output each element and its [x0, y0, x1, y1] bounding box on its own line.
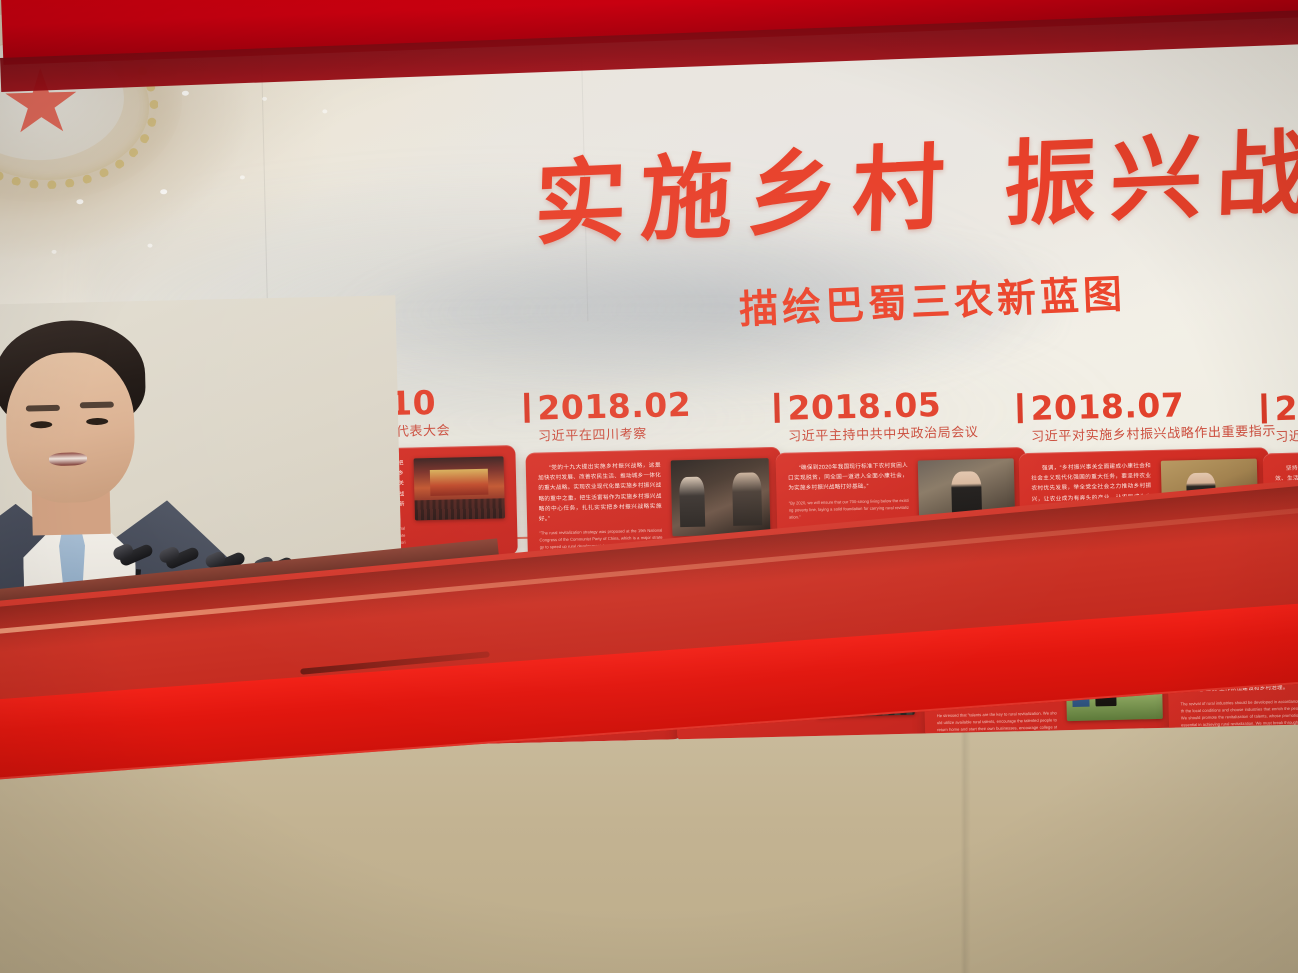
entry-accent-bar [1017, 393, 1023, 423]
entry-year: 2018.07 [1030, 385, 1185, 428]
eyebrow-left [26, 405, 60, 412]
entry-header: 2018.02 习近平在四川考察 [524, 383, 780, 445]
entry-header: 2019 习近平参加全国人大会议代表团审议 [1261, 384, 1298, 445]
entry-header: 2018.07 习近平对实施乡村振兴战略作出重要指示 [1017, 383, 1268, 445]
card-photo [671, 458, 771, 536]
banner-title: 实施乡村 振兴战略 [533, 126, 1295, 253]
mouth [49, 452, 87, 466]
entry-year: 2018.05 [787, 385, 942, 428]
face [5, 351, 136, 504]
card-photo [414, 456, 505, 520]
card-text: “党的十九大提出实施乡村振兴战略，这是加快农村发展、改善农民生活、推动城乡一体化… [538, 461, 663, 554]
card-body-chinese: “党的十九大提出实施乡村振兴战略，这是加快农村发展、改善农民生活、推动城乡一体化… [538, 461, 662, 525]
entry-year: 2018.02 [537, 385, 692, 428]
exhibition-photo-scene: 实施乡村 振兴战略 描绘巴蜀三农新蓝图 2017.10 中国共产党第19次代表大… [0, 0, 1298, 973]
entry-accent-bar [1261, 393, 1267, 423]
card-body-chinese: “确保到2020年我国现行标准下农村贫困人口实现脱贫，同全国一道进入全面小康社会… [788, 461, 909, 494]
entry-header: 2018.05 习近平主持中共中央政治局会议 [774, 383, 1025, 445]
card-body-english: "By 2020, we will ensure that our 700-st… [789, 496, 909, 520]
entry-accent-bar [524, 393, 530, 423]
entry-accent-bar [774, 393, 780, 423]
eyebrow-right [80, 402, 114, 409]
entry-year: 2019 [1274, 387, 1298, 428]
